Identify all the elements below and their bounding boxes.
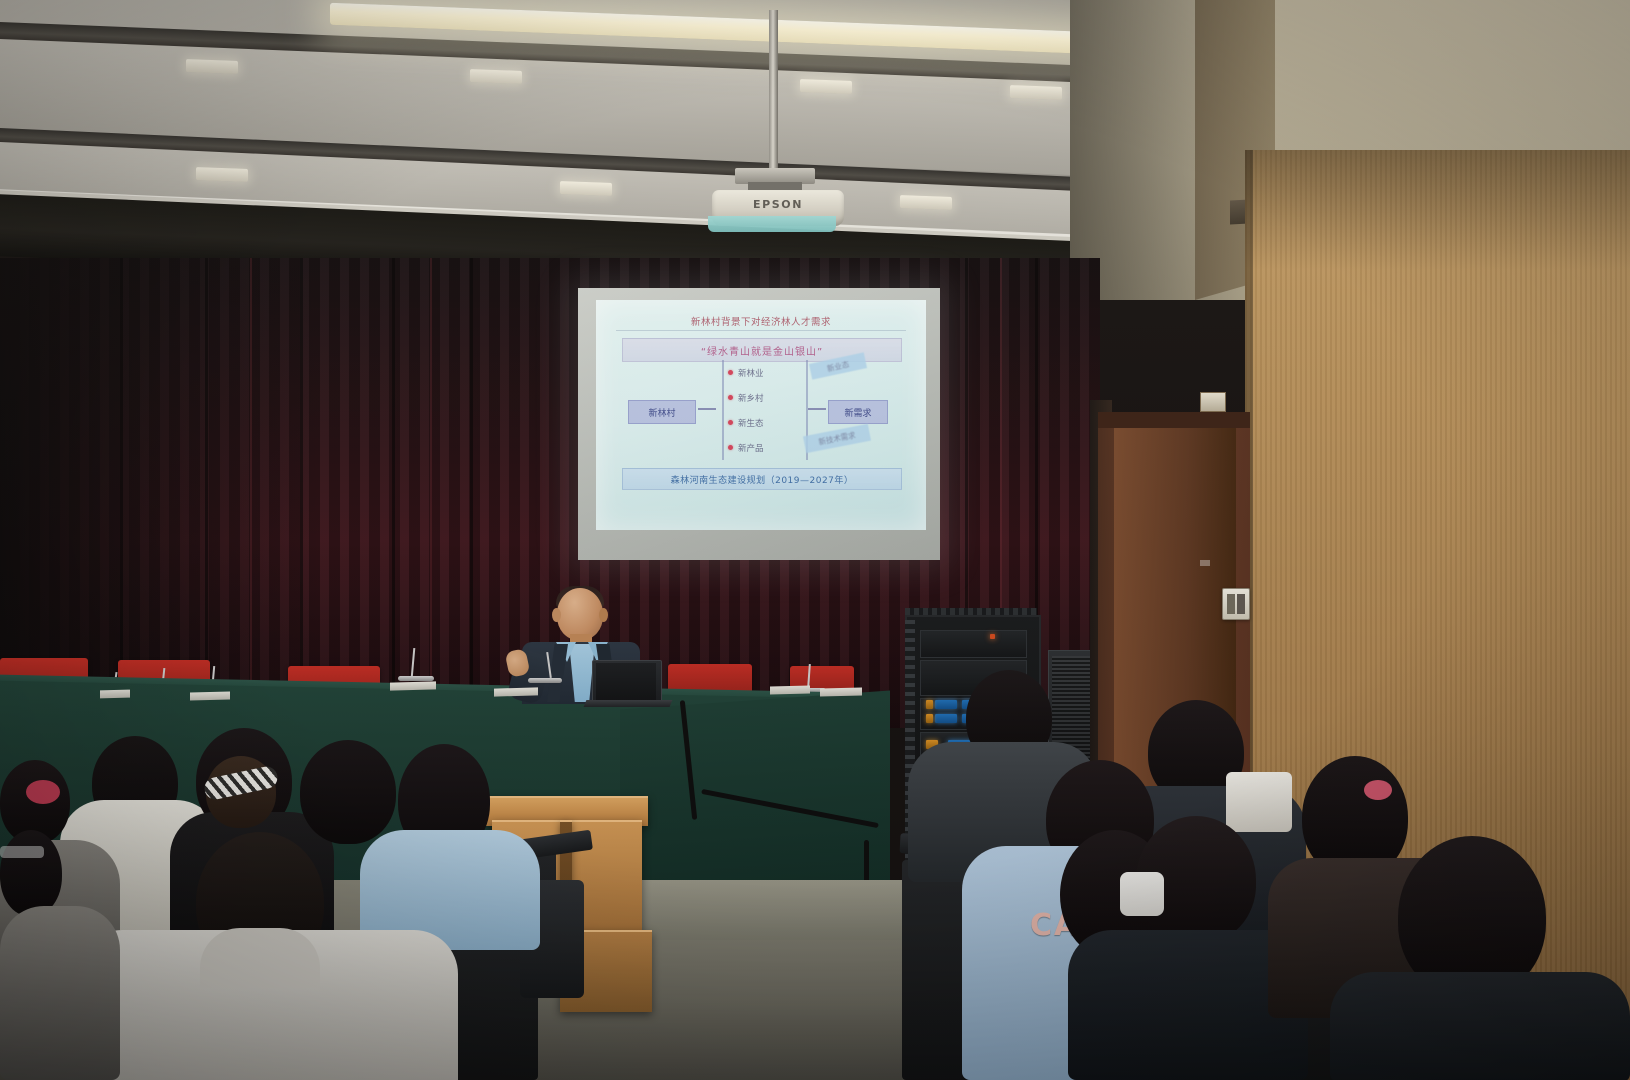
ceiling-downlight	[470, 69, 522, 84]
rack-display	[935, 714, 957, 723]
hair-tie	[26, 780, 60, 804]
curtain-fold	[120, 258, 123, 728]
ceiling-downlight	[800, 79, 852, 94]
slide-right-box: 新需求	[828, 400, 888, 424]
ceiling-downlight	[1010, 85, 1062, 100]
door-sign	[1200, 392, 1226, 412]
face-mask	[1120, 872, 1164, 916]
slide-divider	[616, 330, 906, 331]
wood-wall-shading	[1245, 150, 1630, 270]
bullet-diamond-icon	[728, 370, 733, 375]
rack-indicator	[926, 714, 933, 723]
list-item: 新生态	[728, 417, 802, 429]
ceiling-downlight	[186, 59, 238, 74]
slide-tag-bottom: 新技术需求	[803, 424, 871, 453]
ceiling-downlight	[900, 195, 952, 210]
audience-head	[300, 740, 396, 844]
list-item: 新乡村	[728, 392, 802, 404]
bullet-diamond-icon	[728, 395, 733, 400]
paper-sheet	[820, 687, 862, 696]
rack-display	[935, 700, 957, 709]
microphone-base	[528, 678, 562, 683]
curtain-fold	[392, 258, 395, 728]
curtain-fold	[205, 258, 208, 728]
projector-bracket-lower	[748, 182, 802, 190]
curtain-fold	[300, 258, 303, 728]
microphone-base	[398, 676, 434, 681]
slide-bullet-label: 新产品	[738, 442, 764, 454]
slide-arrow-left	[698, 408, 716, 410]
slide-arrow-right	[808, 408, 826, 410]
slide-bullet-label: 新林业	[738, 367, 764, 379]
projector-mount-pole	[769, 10, 778, 182]
curtain-highlight	[430, 258, 432, 728]
paper-sheet	[494, 687, 538, 696]
lecture-hall-photo: EPSON 新林村背景下对经济林人才需求 “绿水青山就是金山银山” 新林村 新林…	[0, 0, 1630, 1080]
bullet-diamond-icon	[728, 445, 733, 450]
paper-sheet	[190, 691, 230, 700]
slide-bullet-label: 新乡村	[738, 392, 764, 404]
projector-lens	[708, 216, 836, 232]
wall-mark	[1200, 560, 1210, 566]
bullet-diamond-icon	[728, 420, 733, 425]
rack-power-led	[990, 634, 995, 639]
curtain-highlight	[250, 258, 252, 728]
audience-shoulders	[0, 906, 120, 1080]
door-header	[1098, 412, 1250, 428]
hair-tie	[1364, 780, 1392, 800]
laptop-keyboard-base	[584, 700, 673, 707]
rack-indicator	[926, 700, 933, 709]
slide-title: 新林村背景下对经济林人才需求	[596, 314, 926, 328]
presenter-ear	[599, 608, 608, 622]
audience-head	[0, 830, 62, 916]
hoodie-hood	[200, 928, 320, 988]
list-item: 新林业	[728, 367, 802, 379]
projector-brand-label: EPSON	[742, 198, 814, 211]
curtain-fold	[470, 258, 473, 728]
list-item: 新产品	[728, 442, 802, 454]
presenter-head	[557, 588, 603, 640]
slide-left-box: 新林村	[628, 400, 696, 424]
paper-sheet	[770, 685, 810, 694]
laptop-screen	[596, 663, 656, 700]
light-switch[interactable]	[1222, 588, 1250, 620]
slide-bullet-list: 新林业 新乡村 新生态 新产品	[728, 360, 802, 460]
projection-screen: 新林村背景下对经济林人才需求 “绿水青山就是金山银山” 新林村 新林业 新乡村 …	[596, 300, 926, 530]
audience-collar	[1226, 772, 1292, 832]
slide-footer-banner: 森林河南生态建设规划（2019—2027年）	[622, 468, 902, 490]
rack-unit-mixer	[920, 630, 1027, 658]
ceiling-downlight	[560, 181, 612, 196]
ceiling-downlight	[196, 167, 248, 182]
presenter-ear	[552, 608, 561, 622]
paper-sheet	[390, 681, 436, 690]
slide-bullet-label: 新生态	[738, 417, 764, 429]
audience-shoulders	[1330, 972, 1630, 1080]
eyeglasses	[0, 846, 44, 858]
paper-sheet	[100, 690, 130, 699]
